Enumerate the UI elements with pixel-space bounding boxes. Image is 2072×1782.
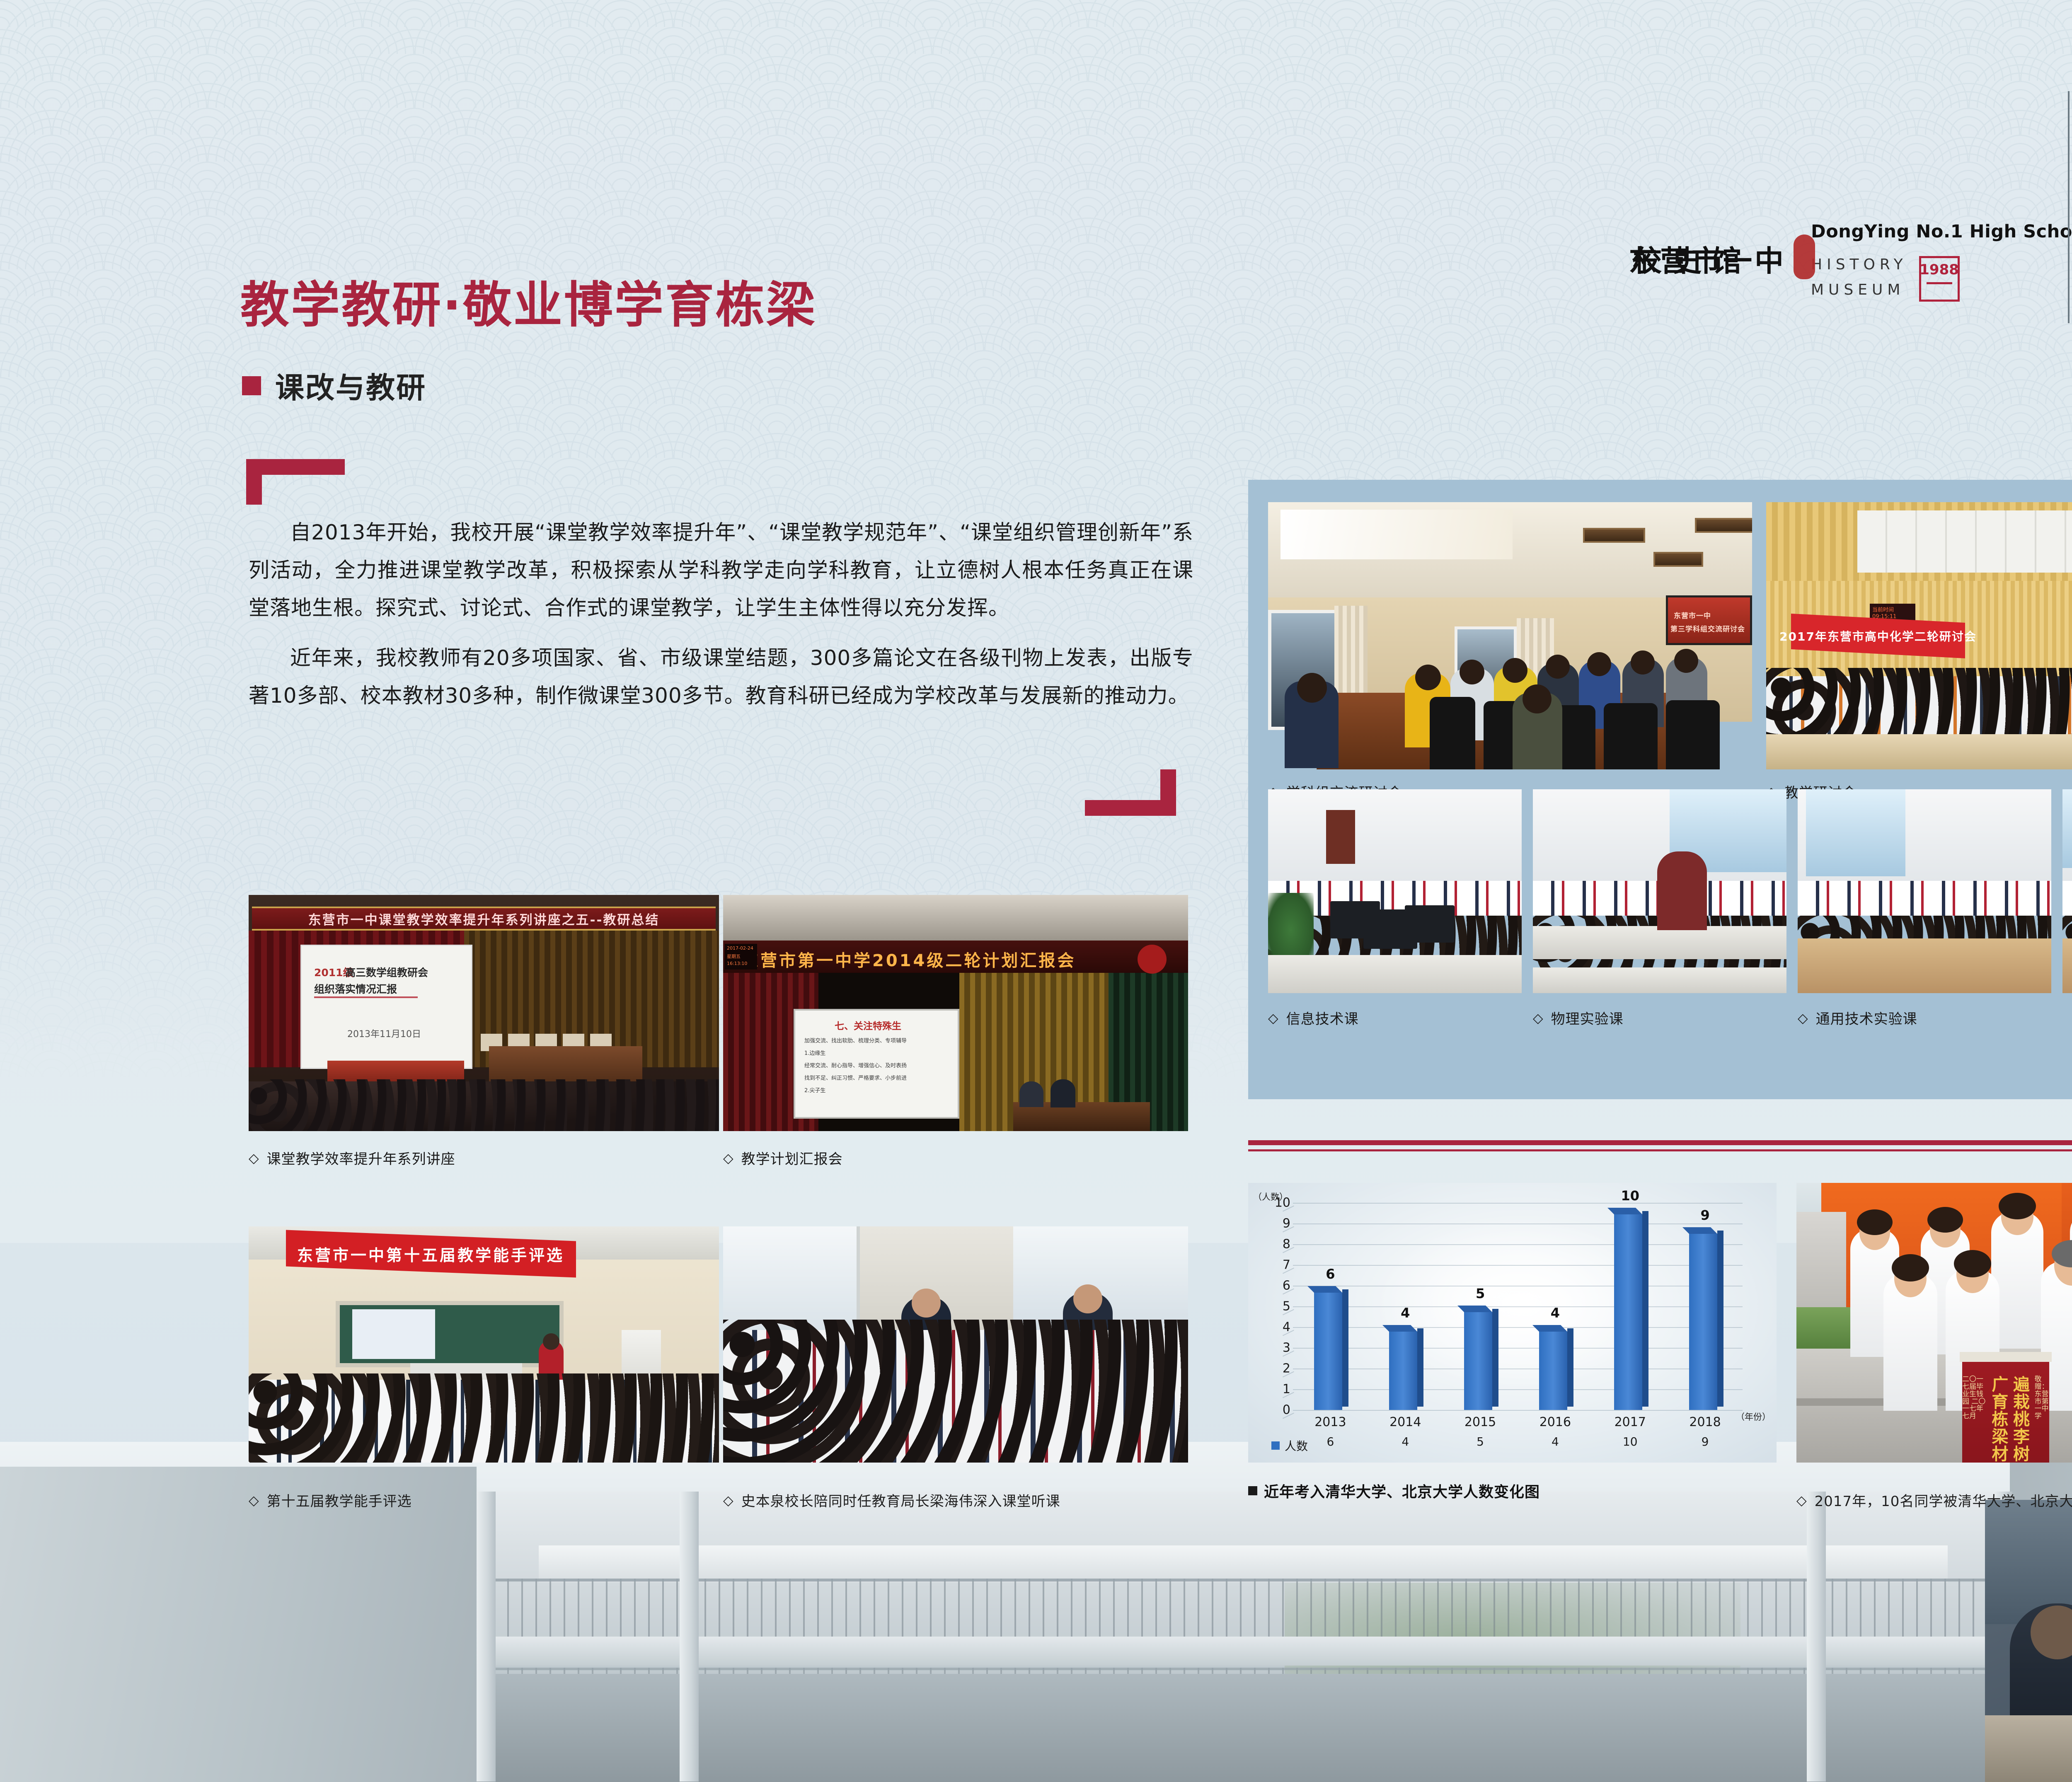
page-root: 教学教研·敬业博学育栋梁 课改与教研 东营市一中 校史馆 DongYing No… bbox=[0, 0, 2072, 1782]
tsinghua-peking-admitted-students-photo: 二〇一七届毕业生钱园 二〇一七年七月 广育栋梁材 遍栽桃李树 敬赠：东营市第一中… bbox=[1796, 1183, 2072, 1463]
chart-x-tick: 2015 bbox=[1457, 1415, 1503, 1429]
section-marker-icon bbox=[1248, 1486, 1257, 1495]
corner-bracket-top-left-icon bbox=[246, 459, 345, 505]
chart-data-label: 6 bbox=[1314, 1266, 1346, 1282]
teaching-plan-report-caption-text: 教学计划汇报会 bbox=[741, 1148, 843, 1168]
chart-y-axis: 012345678910 bbox=[1274, 1203, 1290, 1410]
legend-value: 5 bbox=[1457, 1435, 1503, 1448]
brand-cn-line2: 校史馆 bbox=[1629, 238, 1752, 280]
slide-bullet: 加强交流、找出软肋、梳理分类、专项辅导 bbox=[804, 1036, 949, 1044]
physics-lab-class-caption: ◇ 物理实验课 bbox=[1533, 1008, 1624, 1028]
slide-bullet: 找到不足、纠正习惯、严格要求、小步前进 bbox=[804, 1074, 949, 1081]
chart-caption-text: 近年考入清华大学、北京大学人数变化图 bbox=[1264, 1480, 1540, 1502]
pennant-left-line2: 广育栋梁材 bbox=[1992, 1376, 2009, 1463]
general-technology-lab-caption: ◇ 通用技术实验课 bbox=[1798, 1008, 1917, 1028]
information-technology-class-caption-text: 信息技术课 bbox=[1286, 1008, 1359, 1028]
page-title: 教学教研·敬业博学育栋梁 bbox=[240, 265, 817, 336]
brand-en-line1: DongYing No.1 High School bbox=[1811, 221, 2072, 242]
information-technology-class-caption: ◇ 信息技术课 bbox=[1268, 1008, 1359, 1028]
chart-x-tick: 2014 bbox=[1382, 1415, 1428, 1429]
teaching-contest-caption-text: 第十五届教学能手评选 bbox=[267, 1490, 412, 1510]
year-badge-rule bbox=[1927, 282, 1952, 284]
caption-marker-icon: ◇ bbox=[1798, 1011, 1808, 1025]
legend-value: 9 bbox=[1682, 1435, 1728, 1448]
caption-marker-icon: ◇ bbox=[723, 1494, 734, 1507]
physics-lab-class-caption-text: 物理实验课 bbox=[1551, 1008, 1624, 1028]
chart-legend: 人数 6454109 bbox=[1265, 1435, 1762, 1451]
caption-marker-icon: ◇ bbox=[1796, 1494, 1807, 1507]
clock-time-label: 16:13:10 bbox=[727, 961, 747, 966]
seal-stamp-icon bbox=[1794, 235, 1815, 279]
meeting-screen-line2: 第三学科组交流研讨会 bbox=[1670, 623, 1745, 633]
brand-chinese-name: 东营市一中 校史馆 bbox=[1629, 238, 1786, 280]
group-photo-caption: ◇ 2017年，10名同学被清华大学、北京大学录取 bbox=[1796, 1490, 2072, 1510]
lecture-series-caption-text: 课堂教学效率提升年系列讲座 bbox=[267, 1148, 455, 1168]
chart-data-label: 4 bbox=[1539, 1305, 1571, 1321]
event-seal-icon bbox=[1138, 945, 1167, 974]
teaching-contest-photo: 东营市一中第十五届教学能手评选 bbox=[249, 1226, 719, 1463]
clock-date-label: 2017-02-24 bbox=[727, 945, 753, 951]
chart-data-label: 4 bbox=[1389, 1305, 1421, 1321]
pennant-left-date: 二〇一七届毕业生钱园 二〇一七年七月 bbox=[1962, 1376, 1987, 1420]
caption-marker-icon: ◇ bbox=[249, 1151, 259, 1165]
brand-museum-label: MUSEUM bbox=[1811, 281, 1907, 298]
slide-bullet: 经常交流、耐心指导、增强信心、及时表扬 bbox=[804, 1061, 949, 1069]
brand-history-label: HISTORY bbox=[1811, 256, 1907, 273]
legend-value: 4 bbox=[1382, 1435, 1428, 1448]
section-divider bbox=[1248, 1140, 2072, 1151]
classroom-observation-caption-text: 史本泉校长陪同时任教育局长梁海伟深入课堂听课 bbox=[741, 1490, 1060, 1510]
legend-value: 6 bbox=[1307, 1435, 1353, 1448]
caption-marker-icon: ◇ bbox=[1533, 1011, 1544, 1025]
chart-data-label: 9 bbox=[1689, 1207, 1721, 1223]
caption-marker-icon: ◇ bbox=[723, 1151, 734, 1165]
chart-bar: 10 bbox=[1614, 1198, 1646, 1410]
chart-x-tick: 2018 bbox=[1682, 1415, 1728, 1429]
physics-lab-class-photo bbox=[1533, 789, 1786, 993]
section-heading: 课改与教研 bbox=[242, 365, 426, 406]
led-label: 当前时间 bbox=[1872, 605, 1894, 613]
general-technology-lab-photo-right bbox=[2062, 789, 2072, 993]
slide-bullet: 2.尖子生 bbox=[804, 1086, 949, 1094]
chart-x-tick: 2017 bbox=[1607, 1415, 1653, 1429]
teaching-plan-report-photo: 七、关注特殊生 加强交流、找出软肋、梳理分类、专项辅导 1.边缘生 经常交流、耐… bbox=[723, 895, 1188, 1131]
admissions-bar-chart: （人数） （年份） 012345678910 6454109 201320142… bbox=[1248, 1183, 1777, 1463]
founding-year-badge: 1988 bbox=[1919, 256, 1960, 302]
slide-line2-label: 组织落实情况汇报 bbox=[314, 981, 397, 996]
chart-bar: 9 bbox=[1689, 1217, 1721, 1410]
lecture-series-caption: ◇ 课堂教学效率提升年系列讲座 bbox=[249, 1148, 455, 1168]
slide-bullet: 1.边缘生 bbox=[804, 1049, 949, 1057]
chart-bar: 5 bbox=[1464, 1296, 1496, 1410]
led-clock: 2017-02-24 星期五 16:13:10 bbox=[725, 944, 757, 970]
pennant-left-line1: 遍栽桃李树 bbox=[2013, 1376, 2031, 1463]
general-technology-lab-caption-text: 通用技术实验课 bbox=[1816, 1008, 1917, 1028]
teaching-contest-caption: ◇ 第十五届教学能手评选 bbox=[249, 1490, 412, 1510]
slide-heading-label: 七、关注特殊生 bbox=[835, 1018, 901, 1032]
body-paragraph-2: 近年来，我校教师有20多项国家、省、市级课堂结题，300多篇论文在各级刊物上发表… bbox=[249, 639, 1193, 715]
slide-line1-label: 高三数学组教研会 bbox=[345, 965, 428, 979]
brand-logo: 东营市一中 校史馆 DongYing No.1 High School HIST… bbox=[1629, 215, 2072, 302]
legend-label: 人数 bbox=[1285, 1437, 1308, 1454]
legend-swatch-icon bbox=[1271, 1441, 1280, 1450]
classroom-observation-caption: ◇ 史本泉校长陪同时任教育局长梁海伟深入课堂听课 bbox=[723, 1490, 1060, 1510]
vertical-divider bbox=[2068, 91, 2070, 323]
general-technology-lab-photo bbox=[1798, 789, 2051, 993]
chart-x-axis: 201320142015201620172018 bbox=[1293, 1415, 1743, 1432]
pennant-left-donor: 敬赠：东营市第一中学 bbox=[2035, 1376, 2049, 1420]
legend-value: 4 bbox=[1532, 1435, 1578, 1448]
page-header: 教学教研·敬业博学育栋梁 课改与教研 东营市一中 校史馆 DongYing No… bbox=[0, 0, 2072, 414]
chart-bar: 4 bbox=[1539, 1315, 1571, 1410]
caption-marker-icon: ◇ bbox=[249, 1494, 259, 1507]
chart-bar: 6 bbox=[1314, 1276, 1346, 1410]
chart-data-label: 10 bbox=[1614, 1188, 1646, 1204]
corner-bracket-bottom-right-icon bbox=[1085, 769, 1176, 816]
chem-banner-text: 2017年东营市高中化学二轮研讨会 bbox=[1779, 628, 1977, 644]
section-heading-label: 课改与教研 bbox=[275, 365, 426, 406]
meeting-screen-line1: 东营市一中 bbox=[1674, 610, 1711, 620]
subject-group-seminar-photo: 东营市一中 第三学科组交流研讨会 bbox=[1268, 502, 1752, 769]
chart-data-label: 5 bbox=[1464, 1286, 1496, 1301]
clock-day-label: 星期五 bbox=[727, 953, 741, 960]
body-paragraph-1: 自2013年开始，我校开展“课堂教学效率提升年”、“课堂教学规范年”、“课堂组织… bbox=[249, 514, 1193, 627]
teaching-plan-report-caption: ◇ 教学计划汇报会 bbox=[723, 1148, 843, 1168]
brand-english-name: DongYing No.1 High School HISTORY MUSEUM… bbox=[1811, 215, 2072, 302]
classroom-observation-photo bbox=[723, 1226, 1188, 1463]
teaching-seminar-photo: 当前时间 09:15:11 2017年东营市高中化学二轮研讨会 bbox=[1766, 502, 2072, 769]
lecture-series-photo: 2011级 高三数学组教研会 组织落实情况汇报 2013年11月10日 东营市一… bbox=[249, 895, 719, 1131]
chart-x-tick: 2013 bbox=[1307, 1415, 1353, 1429]
caption-marker-icon: ◇ bbox=[1268, 1011, 1279, 1025]
classroom-reading-photo bbox=[1985, 1500, 2072, 1782]
slide-date-label: 2013年11月10日 bbox=[347, 1027, 421, 1040]
lecture-banner-text: 东营市一中课堂教学效率提升年系列讲座之五--教研总结 bbox=[308, 909, 660, 928]
chart-caption: 近年考入清华大学、北京大学人数变化图 bbox=[1248, 1480, 1540, 1502]
information-technology-class-photo bbox=[1268, 789, 1522, 993]
section-marker-icon bbox=[242, 376, 261, 395]
contest-banner-text: 东营市一中第十五届教学能手评选 bbox=[297, 1242, 564, 1265]
chart-gridline bbox=[1293, 1410, 1743, 1411]
chart-plot-area: 6454109 bbox=[1293, 1203, 1743, 1410]
led-banner-text: 东营市第一中学2014级二轮计划汇报会 bbox=[742, 947, 1076, 971]
legend-value: 10 bbox=[1607, 1435, 1653, 1448]
pennant-left: 二〇一七届毕业生钱园 二〇一七年七月 广育栋梁材 遍栽桃李树 敬赠：东营市第一中… bbox=[1962, 1361, 2049, 1463]
chart-x-tick: 2016 bbox=[1532, 1415, 1578, 1429]
body-text: 自2013年开始，我校开展“课堂教学效率提升年”、“课堂教学规范年”、“课堂组织… bbox=[249, 514, 1193, 727]
group-photo-caption-text: 2017年，10名同学被清华大学、北京大学录取 bbox=[1815, 1490, 2072, 1510]
chart-bar: 4 bbox=[1389, 1315, 1421, 1410]
founding-year-label: 1988 bbox=[1920, 261, 1959, 278]
